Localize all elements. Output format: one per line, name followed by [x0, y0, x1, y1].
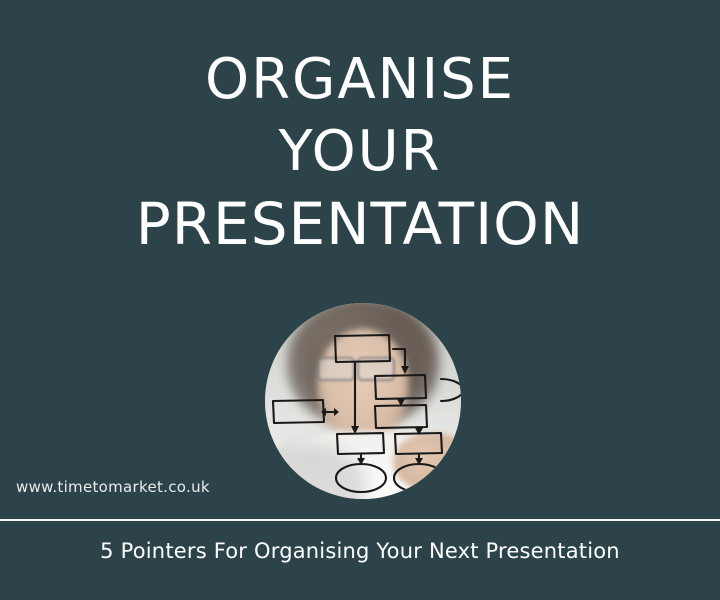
woman-with-flowchart-photo — [265, 303, 461, 499]
flow-arrowhead-1 — [401, 366, 409, 374]
slide-caption: 5 Pointers For Organising Your Next Pres… — [0, 539, 720, 563]
horizontal-divider — [0, 519, 720, 521]
slide-title: ORGANISE YOUR PRESENTATION — [0, 44, 720, 260]
flow-node-right-upper-box — [375, 375, 426, 399]
flow-node-bottom-left-oval — [336, 464, 386, 492]
title-line-3: PRESENTATION — [0, 188, 720, 260]
flow-arrowhead-right — [334, 408, 339, 416]
presentation-slide: ORGANISE YOUR PRESENTATION — [0, 0, 720, 600]
flow-node-left-box — [273, 400, 324, 423]
flow-node-bottom-right-oval — [394, 464, 444, 492]
flow-node-top-box — [335, 335, 390, 362]
flow-node-far-right-oval — [441, 379, 461, 401]
flow-node-bottom-left-box — [337, 433, 384, 454]
title-line-1: ORGANISE — [0, 44, 720, 116]
flow-node-bottom-right-box — [395, 433, 442, 454]
flow-node-middle-right-box — [375, 405, 427, 428]
website-url: www.timetomarket.co.uk — [16, 478, 210, 496]
title-line-2: YOUR — [0, 116, 720, 188]
hand-drawn-flowchart-overlay — [265, 303, 461, 499]
